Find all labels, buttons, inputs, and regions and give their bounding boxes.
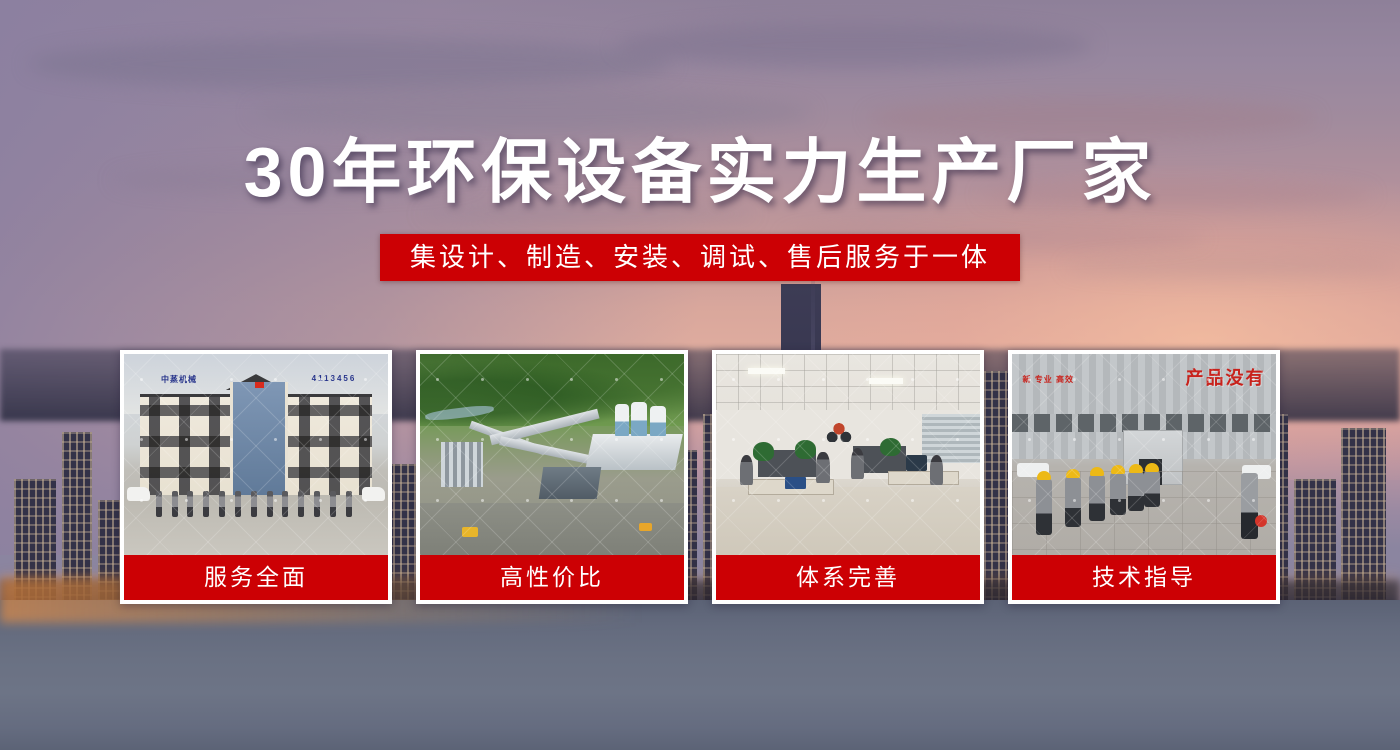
subtitle-banner: 集设计、制造、安装、调试、售后服务于一体 (380, 234, 1020, 281)
monitor-icon (906, 455, 927, 471)
factory-slogan-small-text: 新 专业 高效 (1023, 374, 1074, 385)
feature-card-service[interactable]: 中蒸机械 4113456 服务全面 (120, 350, 392, 604)
feature-card-value[interactable]: 高性价比 (416, 350, 688, 604)
feature-card-guidance[interactable]: 产品没有 新 专业 高效 技术指导 (1008, 350, 1280, 604)
subtitle-banner-wrap: 集设计、制造、安装、调试、售后服务于一体 (0, 234, 1400, 281)
card-caption: 高性价比 (420, 555, 684, 600)
red-helmet-icon (1255, 515, 1267, 527)
feature-card-system[interactable]: 体系完善 (712, 350, 984, 604)
factory-slogan-text: 产品没有 (1185, 364, 1265, 390)
building-sign-text: 中蒸机械 (161, 374, 197, 385)
card-photo-workers-training: 产品没有 新 专业 高效 (1012, 354, 1276, 555)
promo-banner: 30年环保设备实力生产厂家 集设计、制造、安装、调试、售后服务于一体 中蒸机械 … (0, 0, 1400, 750)
card-caption: 技术指导 (1012, 555, 1276, 600)
river-water (0, 600, 1400, 750)
card-photo-aerial-plant (420, 354, 684, 555)
card-photo-office-building: 中蒸机械 4113456 (124, 354, 388, 555)
cloud (252, 90, 812, 135)
cloud (616, 23, 1092, 68)
cloud (28, 38, 672, 91)
card-caption: 服务全面 (124, 555, 388, 600)
flag-icon (255, 382, 264, 388)
laptop-icon (785, 477, 806, 489)
feature-card-list: 中蒸机械 4113456 服务全面 (120, 350, 1280, 604)
wall-decal-icon (822, 420, 856, 442)
card-photo-office-interior (716, 354, 980, 555)
building-phone-text: 4113456 (312, 374, 357, 383)
card-caption: 体系完善 (716, 555, 980, 600)
page-title: 30年环保设备实力生产厂家 (0, 130, 1400, 214)
